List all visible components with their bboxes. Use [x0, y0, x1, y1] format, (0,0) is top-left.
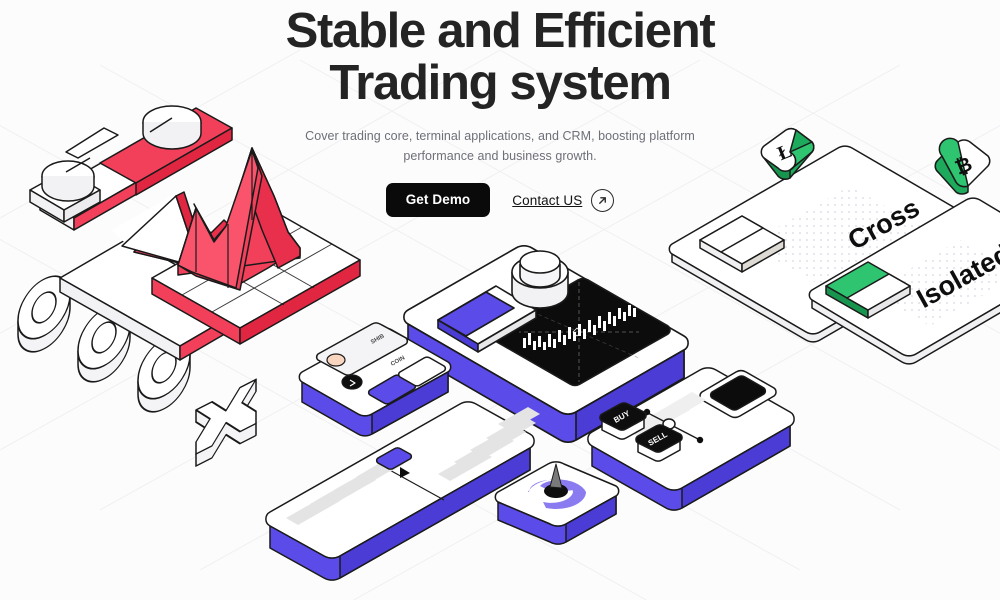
hero-section: Stable and Efficient Trading system Cove… — [0, 0, 1000, 217]
arrow-up-right-icon — [591, 189, 614, 212]
contact-us-link[interactable]: Contact US — [512, 189, 614, 212]
rotary-knob[interactable] — [512, 251, 568, 308]
hero-illustration-page: Cross Ł Isolated — [0, 0, 1000, 600]
page-title-line-2: Trading system — [0, 58, 1000, 110]
get-demo-button[interactable]: Get Demo — [386, 183, 491, 217]
page-subtitle: Cover trading core, terminal application… — [280, 126, 720, 167]
contact-us-label: Contact US — [512, 193, 582, 208]
cta-row: Get Demo Contact US — [0, 183, 1000, 217]
page-title: Stable and Efficient Trading system — [0, 6, 1000, 110]
page-title-line-1: Stable and Efficient — [0, 6, 1000, 58]
